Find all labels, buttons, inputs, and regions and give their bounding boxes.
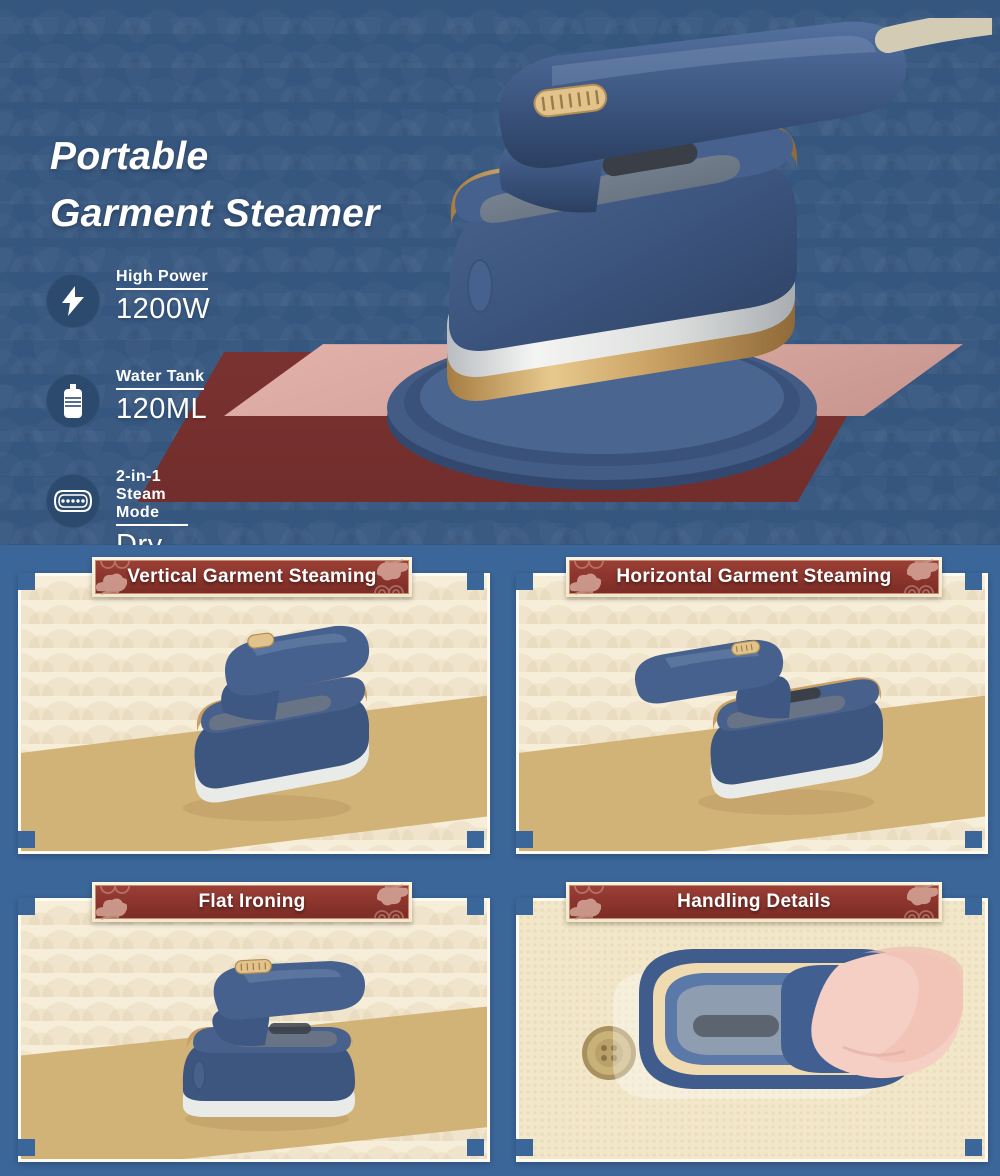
card-notch [18,898,35,915]
cloud-ornament-icon [377,880,411,906]
wave-ornament-icon [574,886,604,898]
hero-title: Portable Garment Steamer [50,128,380,242]
card-notch [516,1139,533,1156]
card-notch [467,831,484,848]
cloud-ornament-icon [377,555,411,581]
wave-ornament-icon [374,906,404,918]
wave-ornament-icon [574,561,604,573]
cloud-ornament-icon [567,898,601,924]
card-notch [18,573,35,590]
cloud-ornament-icon [907,555,941,581]
card-notch [516,573,533,590]
feature-cards-section: Vertical Garment Steaming [0,545,1000,1176]
card-title: Vertical Garment Steaming [127,566,376,588]
card-notch [467,1139,484,1156]
card-title: Handling Details [677,891,831,913]
lightning-bolt-icon [46,274,100,328]
card-title: Horizontal Garment Steaming [616,566,891,588]
product-vertical-steaming-image [139,612,389,827]
steam-soleplate-icon [46,474,100,528]
banner-handling-details: Handling Details [566,882,942,922]
feature-label: High Power [116,268,208,290]
cloud-ornament-icon [93,573,127,599]
feature-value: Dry & Moist [116,529,188,545]
water-bottle-icon [46,374,100,428]
card-notch [467,573,484,590]
cloud-ornament-icon [907,880,941,906]
card-notch [18,831,35,848]
cloud-ornament-icon [567,573,601,599]
hero-title-line-1: Portable [50,135,208,178]
wave-ornament-icon [374,581,404,593]
card-vertical-garment-steaming[interactable] [18,573,490,854]
hero-product-image [352,18,992,518]
card-handling-details[interactable] [516,898,988,1162]
feature-value: 120ML [116,393,207,426]
card-notch [965,573,982,590]
hero-title-line-2: Garment Steamer [50,185,380,242]
product-horizontal-steaming-image [611,616,901,821]
banner-flat-ironing: Flat Ironing [92,882,412,922]
banner-horizontal-garment-steaming: Horizontal Garment Steaming [566,557,942,597]
card-flat-ironing[interactable] [18,898,490,1162]
card-horizontal-garment-steaming[interactable] [516,573,988,854]
product-flat-ironing-image [147,935,379,1135]
feature-label: Water Tank [116,368,204,390]
card-notch [516,898,533,915]
card-notch [965,1139,982,1156]
card-notch [467,898,484,915]
cloud-ornament-icon [93,898,127,924]
feature-value: 1200W [116,293,210,326]
card-notch [965,831,982,848]
card-title: Flat Ironing [198,891,305,913]
wave-ornament-icon [100,561,130,573]
wave-ornament-icon [100,886,130,898]
wave-ornament-icon [904,581,934,593]
product-handling-details-image [543,929,963,1139]
hero-section: Portable Garment Steamer High Power 1200… [0,0,1000,545]
card-notch [18,1139,35,1156]
product-detail-page: Portable Garment Steamer High Power 1200… [0,0,1000,1176]
wave-ornament-icon [904,906,934,918]
card-notch [516,831,533,848]
card-notch [965,898,982,915]
banner-vertical-garment-steaming: Vertical Garment Steaming [92,557,412,597]
feature-label: 2-in-1 Steam Mode [116,468,188,526]
